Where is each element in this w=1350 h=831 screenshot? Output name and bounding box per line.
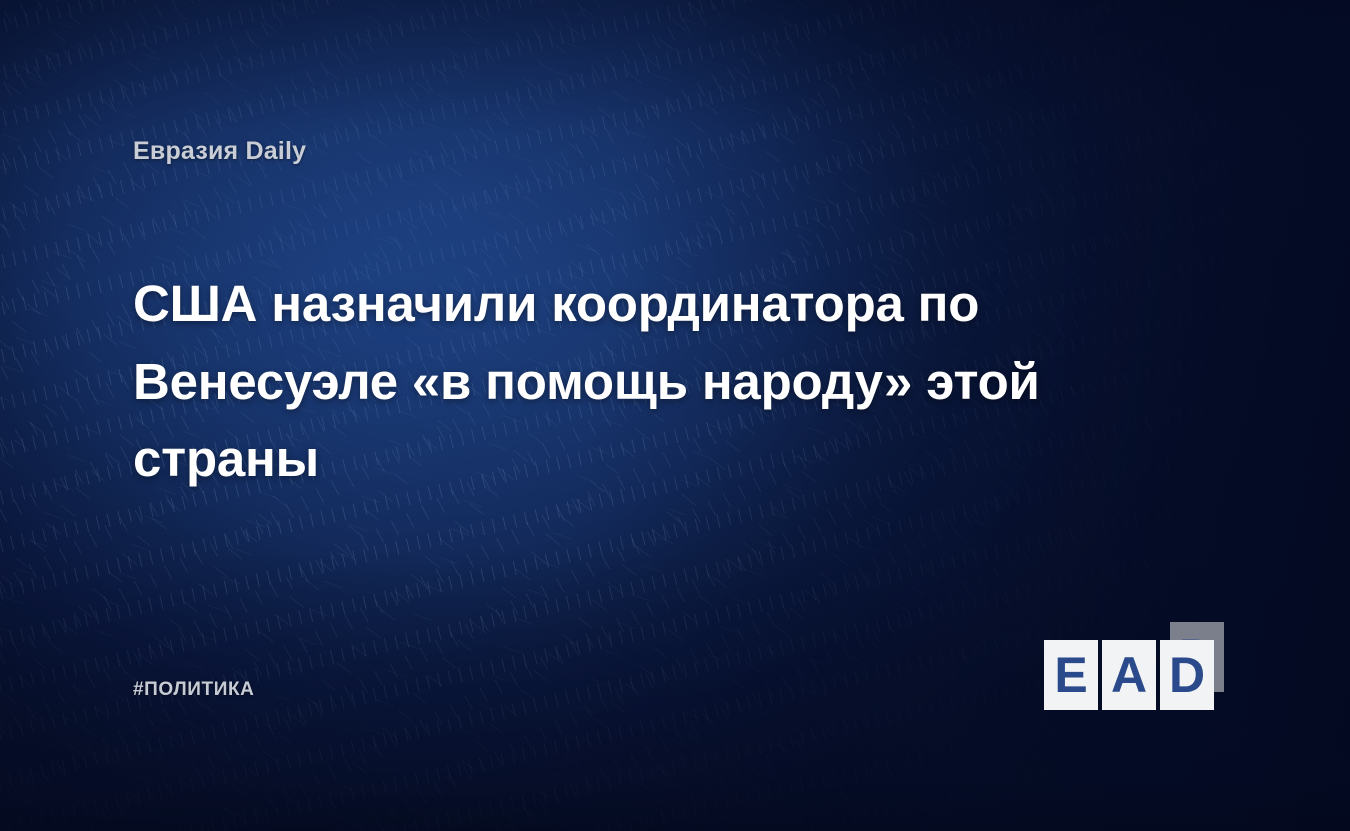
news-share-card: Евразия Daily США назначили координатора… xyxy=(0,0,1350,831)
logo-letter-e: E xyxy=(1054,650,1087,700)
category-tag: #ПОЛИТИКА xyxy=(133,679,255,701)
page-title: США назначили координатора по Венесуэле … xyxy=(133,265,1183,498)
logo-letter-a: A xyxy=(1111,650,1147,700)
eadaily-logo: D E A D xyxy=(1044,622,1224,712)
brand-name: Евразия Daily xyxy=(133,137,306,166)
logo-tile-a: A xyxy=(1102,640,1156,710)
logo-tile-d: D xyxy=(1160,640,1214,710)
logo-tile-e: E xyxy=(1044,640,1098,710)
logo-letter-d: D xyxy=(1169,650,1205,700)
card-content: Евразия Daily США назначили координатора… xyxy=(0,0,1350,831)
